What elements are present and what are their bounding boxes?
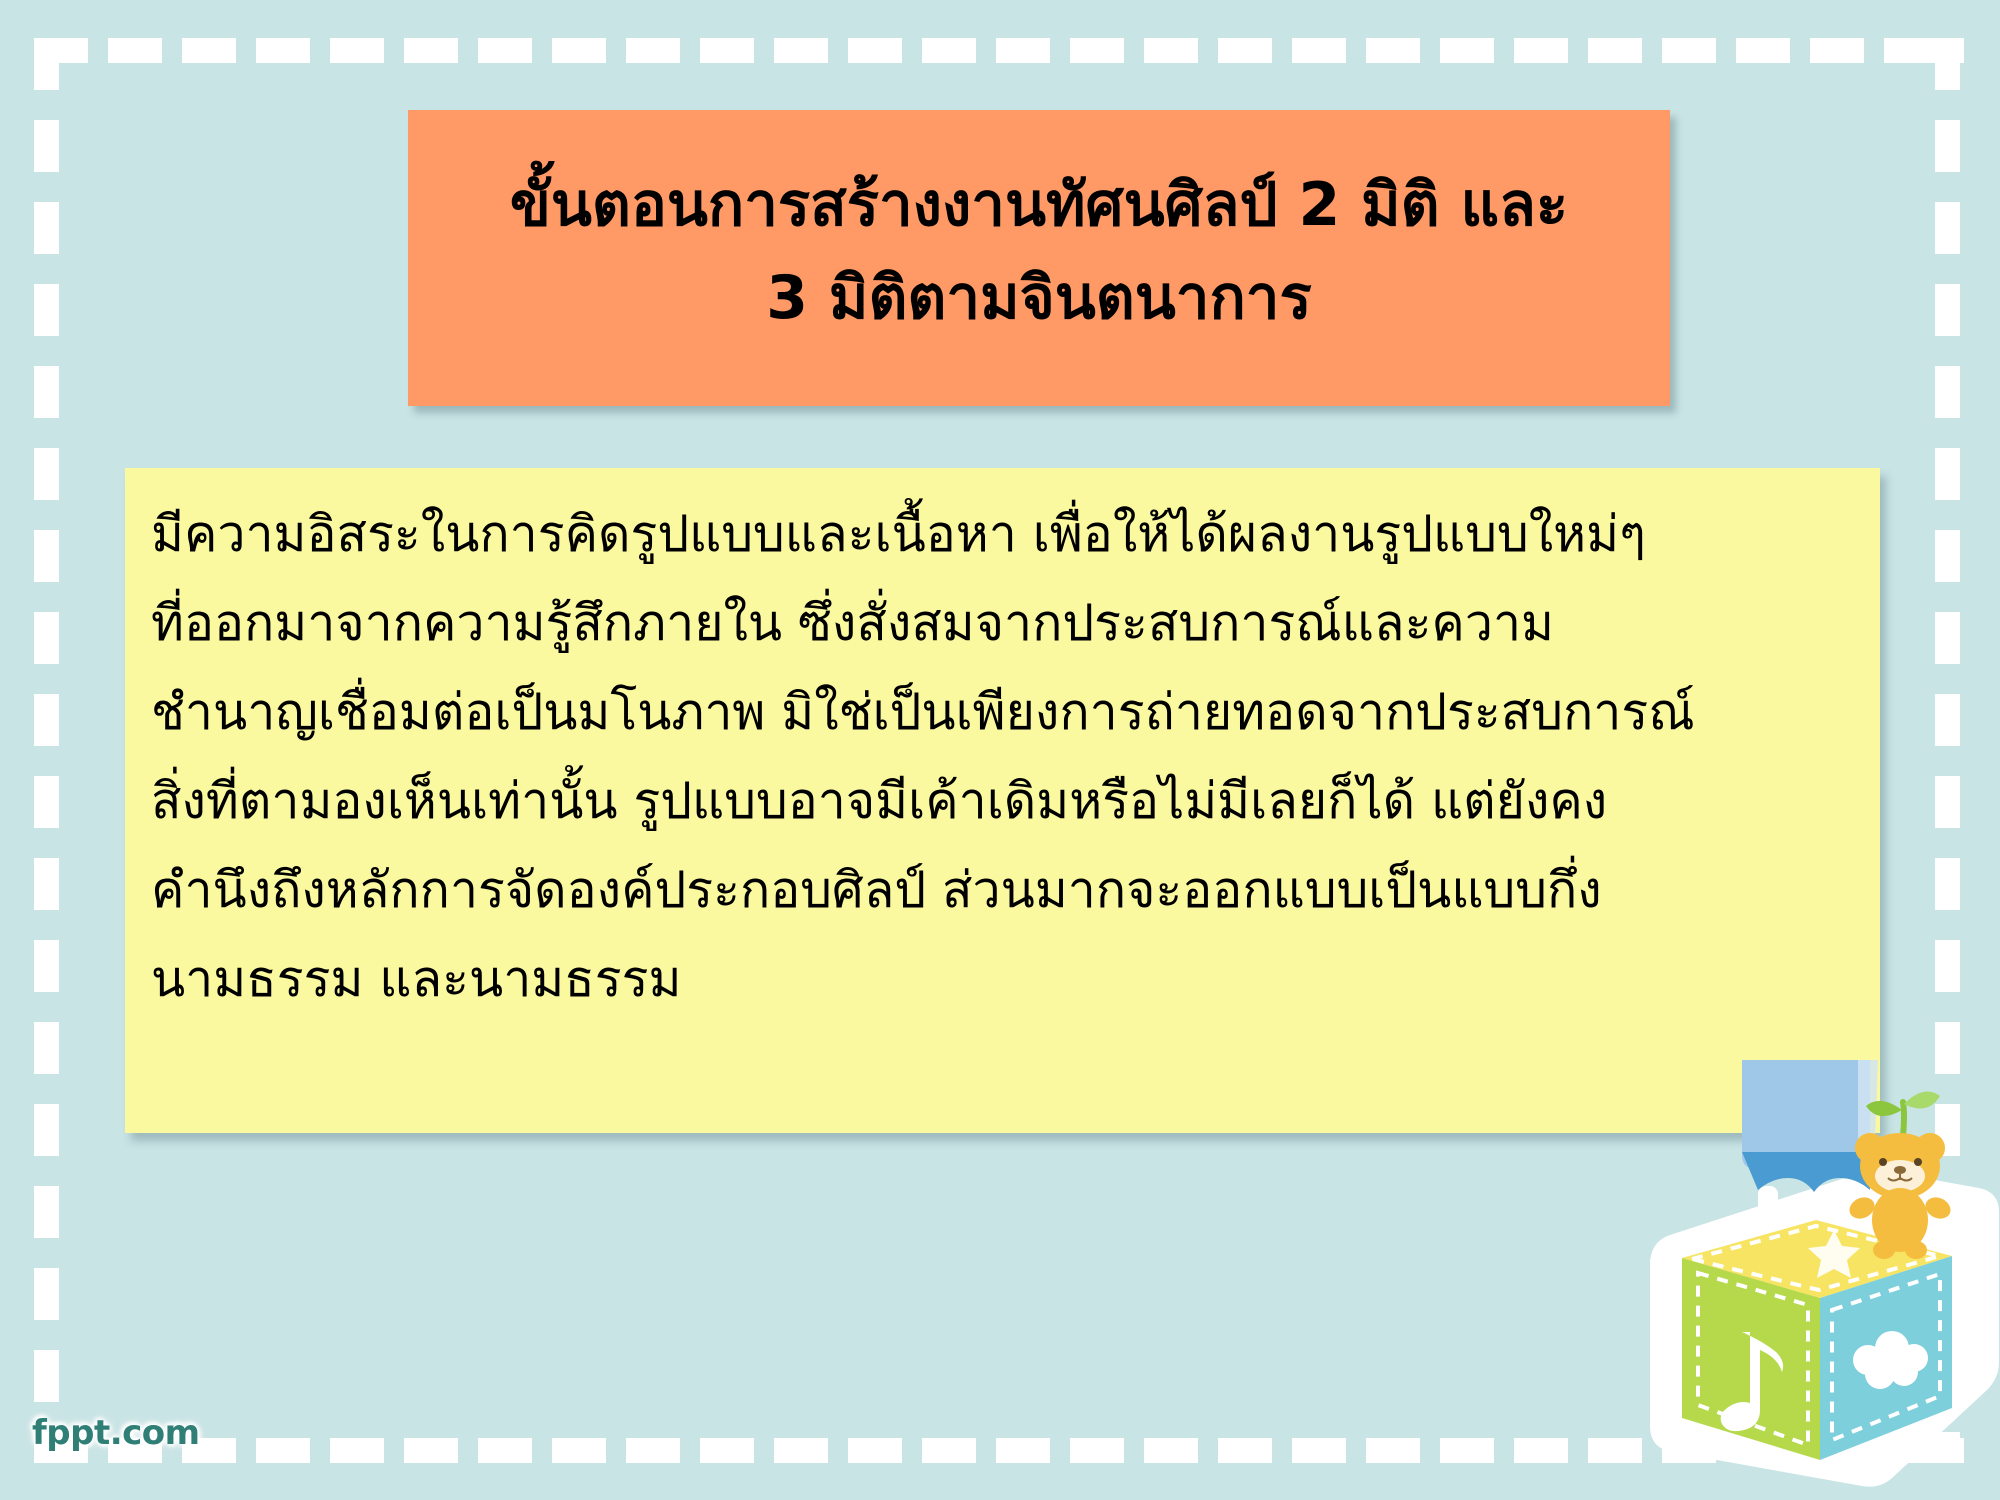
- title-line-2: 3 มิติตามจินตนาการ: [766, 252, 1311, 345]
- fppt-watermark: fppt.com: [32, 1413, 200, 1453]
- title-box: ขั้นตอนการสร้างงานทัศนศิลป์ 2 มิติ และ 3…: [408, 110, 1670, 406]
- content-line-2: ที่ออกมาจากความรู้สึกภายใน ซึ่งสั่งสมจาก…: [151, 579, 1854, 668]
- slide-canvas: ขั้นตอนการสร้างงานทัศนศิลป์ 2 มิติ และ 3…: [0, 0, 2000, 1500]
- title-line-1: ขั้นตอนการสร้างงานทัศนศิลป์ 2 มิติ และ: [510, 159, 1568, 252]
- content-line-5: คำนึงถึงหลักการจัดองค์ประกอบศิลป์ ส่วนมา…: [151, 846, 1854, 935]
- frame-dash-top: [34, 38, 1964, 63]
- content-line-3: ชำนาญเชื่อมต่อเป็นมโนภาพ มิใช่เป็นเพียงก…: [151, 668, 1854, 757]
- content-line-4: สิ่งที่ตามองเห็นเท่านั้น รูปแบบอาจมีเค้า…: [151, 757, 1854, 846]
- frame-dash-left: [34, 38, 59, 1463]
- content-line-1: มีความอิสระในการคิดรูปแบบและเนื้อหา เพื่…: [151, 490, 1854, 579]
- content-line-6: นามธรรม และนามธรรม: [151, 935, 1854, 1024]
- content-box: มีความอิสระในการคิดรูปแบบและเนื้อหา เพื่…: [125, 468, 1880, 1133]
- toy-block-decoration: [1630, 1060, 2000, 1500]
